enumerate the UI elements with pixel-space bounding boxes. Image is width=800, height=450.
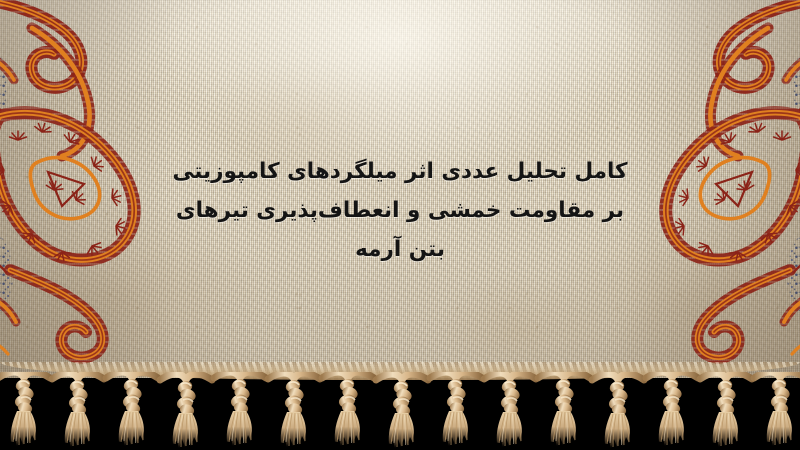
knotted-tassel-fringe: [0, 372, 800, 450]
title-line-1: کامل تحلیل عددی اثر میلگردهای کامپوزیتی: [165, 152, 635, 191]
title-card: کامل تحلیل عددی اثر میلگردهای کامپوزیتی …: [0, 0, 800, 450]
title-line-2: بر مقاومت خمشی و انعطاف‌پذیری تیرهای: [165, 191, 635, 230]
title-line-3: بتن آرمه: [165, 230, 635, 269]
page-title: کامل تحلیل عددی اثر میلگردهای کامپوزیتی …: [165, 152, 635, 269]
